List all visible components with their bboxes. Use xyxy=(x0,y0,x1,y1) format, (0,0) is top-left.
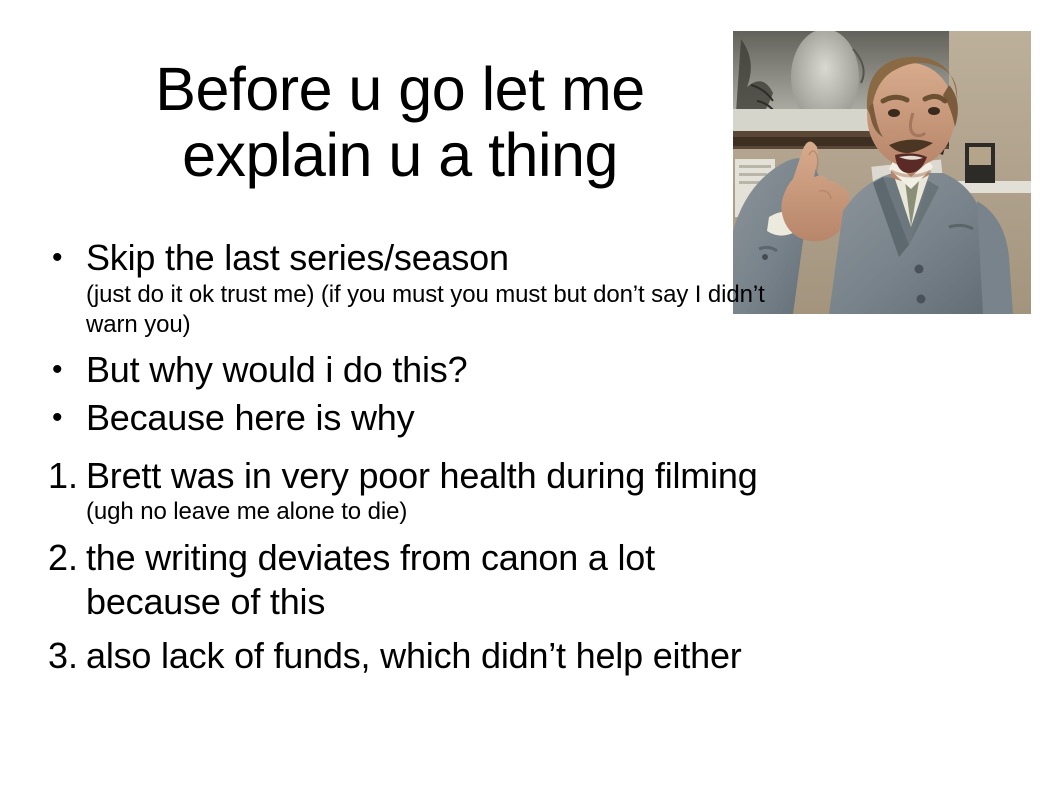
slide-canvas: Before u go let me explain u a thing xyxy=(0,0,1059,793)
list-item-body: But why would i do this? xyxy=(86,348,784,392)
list-item-note: (ugh no leave me alone to die) xyxy=(86,498,407,525)
list-item-text: Brett was in very poor health during fil… xyxy=(86,455,758,496)
list-item: 2. the writing deviates from canon a lot… xyxy=(44,536,784,624)
list-item-body: Because here is why xyxy=(86,396,784,440)
list-item-text: also lack of funds, which didn’t help ei… xyxy=(86,635,742,676)
title-line-1: Before u go let me xyxy=(155,55,644,123)
list-item-text: Because here is why xyxy=(86,397,414,438)
list-item: • Skip the last series/season (just do i… xyxy=(44,236,784,340)
list-item: 3. also lack of funds, which didn’t help… xyxy=(44,634,784,678)
list-item-body: the writing deviates from canon a lot be… xyxy=(86,536,784,624)
list-item-body: also lack of funds, which didn’t help ei… xyxy=(86,634,784,678)
title-line-2: explain u a thing xyxy=(182,121,618,189)
list-item-body: Skip the last series/season (just do it … xyxy=(86,236,784,340)
list-marker: 3. xyxy=(44,634,86,678)
list-marker: • xyxy=(44,348,86,392)
list-marker: • xyxy=(44,396,86,440)
list-marker: 1. xyxy=(44,454,86,498)
list-item: • But why would i do this? xyxy=(44,348,784,392)
list-marker: 2. xyxy=(44,536,86,580)
list-item-body: Brett was in very poor health during fil… xyxy=(86,454,784,526)
page-title: Before u go let me explain u a thing xyxy=(60,56,740,189)
list-item: • Because here is why xyxy=(44,396,784,440)
list-item-text: Skip the last series/season xyxy=(86,237,509,278)
slide-body: • Skip the last series/season (just do i… xyxy=(44,236,784,678)
list-item: 1. Brett was in very poor health during … xyxy=(44,454,784,526)
list-item-note: (just do it ok trust me) (if you must yo… xyxy=(86,280,784,340)
list-item-text: But why would i do this? xyxy=(86,349,467,390)
list-item-text: the writing deviates from canon a lot be… xyxy=(86,537,655,622)
list-marker: • xyxy=(44,236,86,280)
